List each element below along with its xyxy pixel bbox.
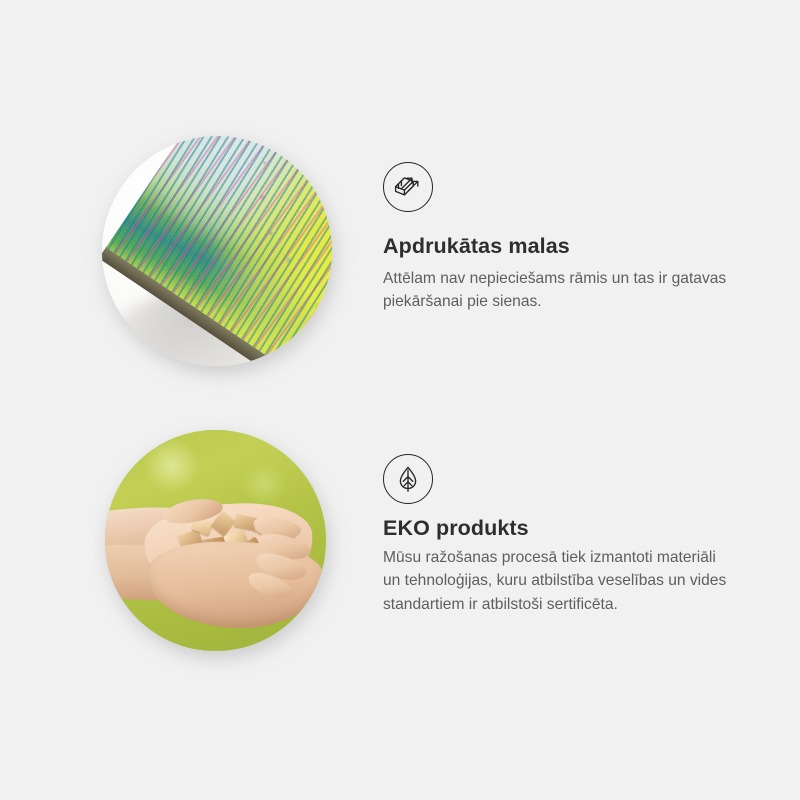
feature-title-eco-product: EKO produkts — [383, 516, 743, 542]
leaf-glyph — [393, 464, 423, 494]
text-column: Apdrukātas malas Attēlam nav nepieciešam… — [383, 132, 743, 314]
leaf-icon — [383, 454, 433, 504]
text-column: EKO produkts Mūsu ražošanas procesā tiek… — [383, 428, 743, 617]
hands-holding-wood-chips-photo — [105, 430, 326, 651]
feature-info-graphic: Apdrukātas malas Attēlam nav nepieciešam… — [0, 0, 800, 800]
feature-description-printed-edges: Attēlam nav nepieciešams rāmis un tas ir… — [383, 267, 735, 314]
media-column — [0, 428, 383, 668]
feature-title-printed-edges: Apdrukātas malas — [383, 234, 743, 260]
feature-description-eco-product: Mūsu ražošanas procesā tiek izmantoti ma… — [383, 546, 735, 617]
canvas-print-corner-photo — [102, 136, 332, 366]
media-column — [0, 132, 383, 372]
wrapped-canvas-edge-icon — [383, 162, 433, 212]
wrapped-canvas-edge-glyph — [393, 172, 423, 202]
canvas-scene — [102, 136, 332, 366]
feature-block-printed-edges: Apdrukātas malas Attēlam nav nepieciešam… — [0, 132, 743, 372]
feature-block-eco-product: EKO produkts Mūsu ražošanas procesā tiek… — [0, 428, 743, 668]
